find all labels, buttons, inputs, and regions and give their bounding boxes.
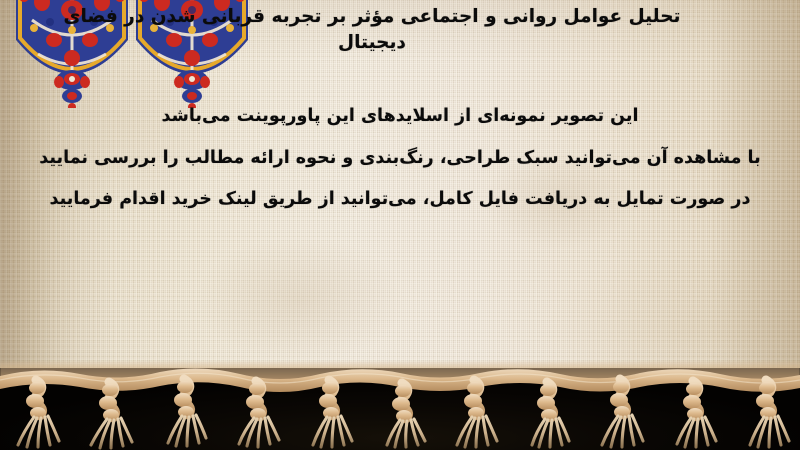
medallion-pendant: [54, 70, 90, 108]
slide-canvas: تحلیل عوامل روانی و اجتماعی مؤثر بر تجرب…: [0, 0, 800, 450]
medallion-pendant: [174, 70, 210, 108]
body-line-3: در صورت تمایل به دریافت فایل کامل، می‌تو…: [0, 191, 800, 209]
body-text-block: این تصویر نمونه‌ای از اسلایدهای این پاور…: [0, 108, 800, 209]
carpet-knotted-fringe: [0, 340, 800, 450]
body-line-1: این تصویر نمونه‌ای از اسلایدهای این پاور…: [0, 108, 800, 126]
page-title: تحلیل عوامل روانی و اجتماعی مؤثر بر تجرب…: [0, 4, 800, 57]
body-line-2: با مشاهده آن می‌توانید سبک طراحی، رنگ‌بن…: [0, 150, 800, 168]
